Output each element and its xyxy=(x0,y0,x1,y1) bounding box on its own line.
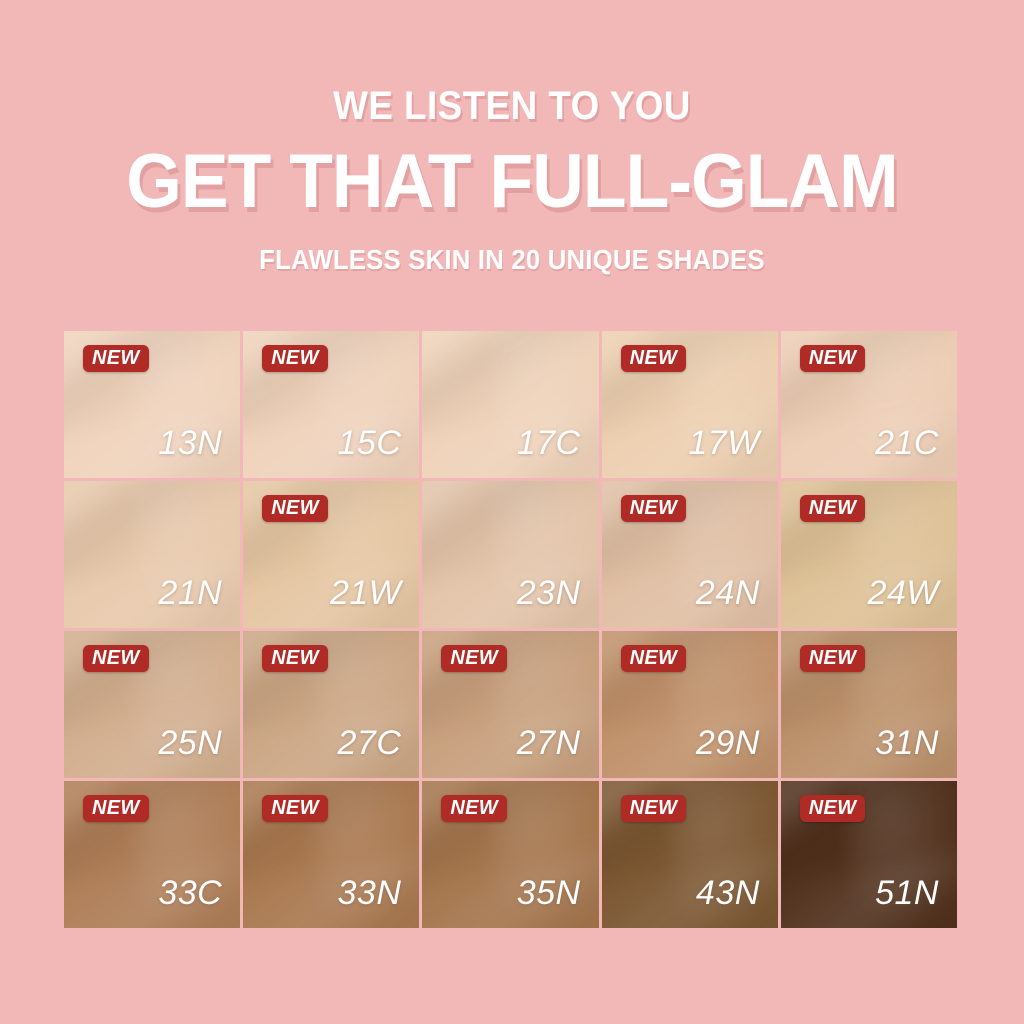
eyebrow-text: WE LISTEN TO YOU xyxy=(41,0,983,126)
shade-swatch[interactable]: 17C xyxy=(422,331,598,478)
new-badge: NEW xyxy=(83,795,149,822)
shade-grid: NEW13NNEW15C17CNEW17WNEW21C21NNEW21W23NN… xyxy=(64,331,957,928)
headline-text: GET THAT FULL-GLAM xyxy=(31,126,994,220)
new-badge: NEW xyxy=(800,795,866,822)
shade-swatch[interactable]: NEW24W xyxy=(781,481,957,628)
shade-code-label: 15C xyxy=(338,426,402,460)
new-badge: NEW xyxy=(83,645,149,672)
shade-swatch[interactable]: 23N xyxy=(422,481,598,628)
shade-code-label: 31N xyxy=(875,726,939,760)
shade-code-label: 35N xyxy=(517,876,581,910)
shade-swatch[interactable]: NEW15C xyxy=(243,331,419,478)
shade-swatch[interactable]: NEW51N xyxy=(781,781,957,928)
new-badge: NEW xyxy=(262,495,328,522)
new-badge: NEW xyxy=(262,795,328,822)
shade-code-label: 17C xyxy=(517,426,581,460)
shade-swatch[interactable]: NEW27C xyxy=(243,631,419,778)
new-badge: NEW xyxy=(800,645,866,672)
new-badge: NEW xyxy=(621,345,687,372)
shade-code-label: 25N xyxy=(158,726,222,760)
shade-swatch[interactable]: NEW43N xyxy=(602,781,778,928)
shade-swatch[interactable]: NEW33C xyxy=(64,781,240,928)
subheadline-text: FLAWLESS SKIN IN 20 UNIQUE SHADES xyxy=(41,220,983,274)
shade-swatch[interactable]: 21N xyxy=(64,481,240,628)
new-badge: NEW xyxy=(441,795,507,822)
shade-code-label: 33N xyxy=(338,876,402,910)
swatch-sheen-icon xyxy=(422,331,598,437)
shade-code-label: 24N xyxy=(696,576,760,610)
new-badge: NEW xyxy=(621,795,687,822)
shade-swatch[interactable]: NEW29N xyxy=(602,631,778,778)
new-badge: NEW xyxy=(441,645,507,672)
swatch-sheen-icon xyxy=(64,481,240,587)
new-badge: NEW xyxy=(621,495,687,522)
shade-swatch[interactable]: NEW33N xyxy=(243,781,419,928)
shade-code-label: 23N xyxy=(517,576,581,610)
shade-code-label: 27N xyxy=(517,726,581,760)
shade-swatch[interactable]: NEW27N xyxy=(422,631,598,778)
shade-code-label: 21W xyxy=(330,576,401,610)
shade-code-label: 51N xyxy=(875,876,939,910)
new-badge: NEW xyxy=(262,345,328,372)
shade-code-label: 21N xyxy=(158,576,222,610)
promo-poster: WE LISTEN TO YOU GET THAT FULL-GLAM FLAW… xyxy=(0,0,1024,1024)
new-badge: NEW xyxy=(621,645,687,672)
new-badge: NEW xyxy=(262,645,328,672)
shade-swatch[interactable]: NEW21C xyxy=(781,331,957,478)
shade-swatch[interactable]: NEW21W xyxy=(243,481,419,628)
shade-swatch[interactable]: NEW17W xyxy=(602,331,778,478)
shade-code-label: 13N xyxy=(158,426,222,460)
shade-swatch[interactable]: NEW25N xyxy=(64,631,240,778)
new-badge: NEW xyxy=(800,495,866,522)
shade-code-label: 33C xyxy=(158,876,222,910)
shade-swatch[interactable]: NEW24N xyxy=(602,481,778,628)
shade-code-label: 24W xyxy=(868,576,939,610)
new-badge: NEW xyxy=(83,345,149,372)
shade-swatch[interactable]: NEW13N xyxy=(64,331,240,478)
shade-code-label: 29N xyxy=(696,726,760,760)
shade-code-label: 17W xyxy=(688,426,759,460)
shade-code-label: 43N xyxy=(696,876,760,910)
swatch-sheen-icon xyxy=(422,481,598,587)
shade-code-label: 27C xyxy=(338,726,402,760)
shade-code-label: 21C xyxy=(875,426,939,460)
header: WE LISTEN TO YOU GET THAT FULL-GLAM FLAW… xyxy=(0,0,1024,274)
new-badge: NEW xyxy=(800,345,866,372)
shade-swatch[interactable]: NEW35N xyxy=(422,781,598,928)
shade-swatch[interactable]: NEW31N xyxy=(781,631,957,778)
